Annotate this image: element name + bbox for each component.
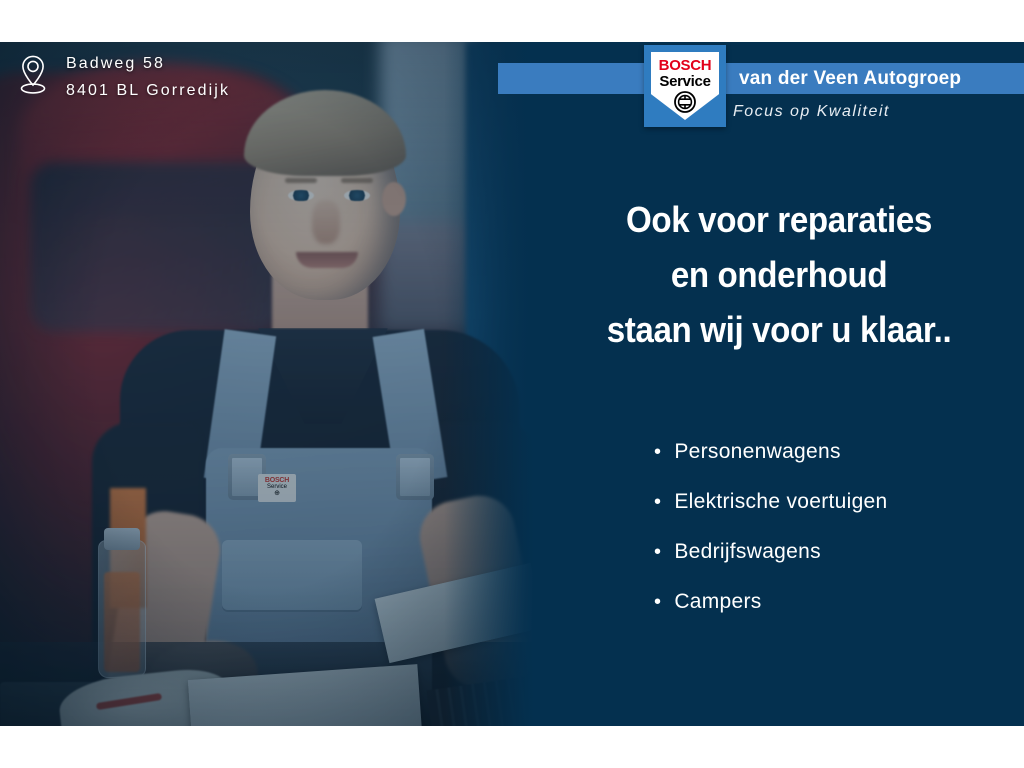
- headline: Ook voor reparaties en onderhoud staan w…: [554, 192, 1005, 357]
- services-list: • Personenwagens • Elektrische voertuige…: [654, 427, 1024, 627]
- service-label: Bedrijfswagens: [674, 527, 821, 576]
- headline-line-3: staan wij voor u klaar..: [554, 302, 1005, 357]
- photo-right-fade: [444, 42, 534, 726]
- service-label: Campers: [674, 577, 761, 626]
- address-city: 8401 BL Gorredijk: [66, 77, 230, 104]
- headline-line-1: Ook voor reparaties: [554, 192, 1005, 247]
- headline-line-2: en onderhoud: [554, 247, 1005, 302]
- bullet-icon: •: [654, 478, 661, 527]
- brand-name: van der Veen Autogroep: [739, 64, 961, 94]
- bullet-icon: •: [654, 528, 661, 577]
- list-item: • Elektrische voertuigen: [654, 477, 1024, 527]
- info-panel: BOSCH Service van der Veen Autogroep Foc…: [534, 42, 1024, 726]
- service-label: Personenwagens: [674, 427, 840, 476]
- brand-tagline: Focus op Kwaliteit: [733, 103, 890, 121]
- logo-shield: BOSCH Service: [651, 52, 719, 120]
- bullet-icon: •: [654, 578, 661, 627]
- map-pin-icon: [16, 53, 50, 102]
- service-label: Elektrische voertuigen: [674, 477, 887, 526]
- list-item: • Bedrijfswagens: [654, 527, 1024, 577]
- address-block: Badweg 58 8401 BL Gorredijk: [16, 50, 230, 104]
- bosch-car-service-logo[interactable]: BOSCH Service: [644, 45, 726, 127]
- list-item: • Campers: [654, 577, 1024, 627]
- bullet-icon: •: [654, 428, 661, 477]
- mechanic-photo: BOSCH Service ⊕: [0, 42, 534, 726]
- promo-banner: BOSCH Service ⊕: [0, 42, 1024, 726]
- list-item: • Personenwagens: [654, 427, 1024, 477]
- bosch-armature-icon: [674, 91, 696, 118]
- logo-service-text: Service: [659, 73, 710, 90]
- logo-bosch-text: BOSCH: [659, 58, 712, 73]
- address-lines: Badweg 58 8401 BL Gorredijk: [66, 50, 230, 104]
- address-street: Badweg 58: [66, 50, 230, 77]
